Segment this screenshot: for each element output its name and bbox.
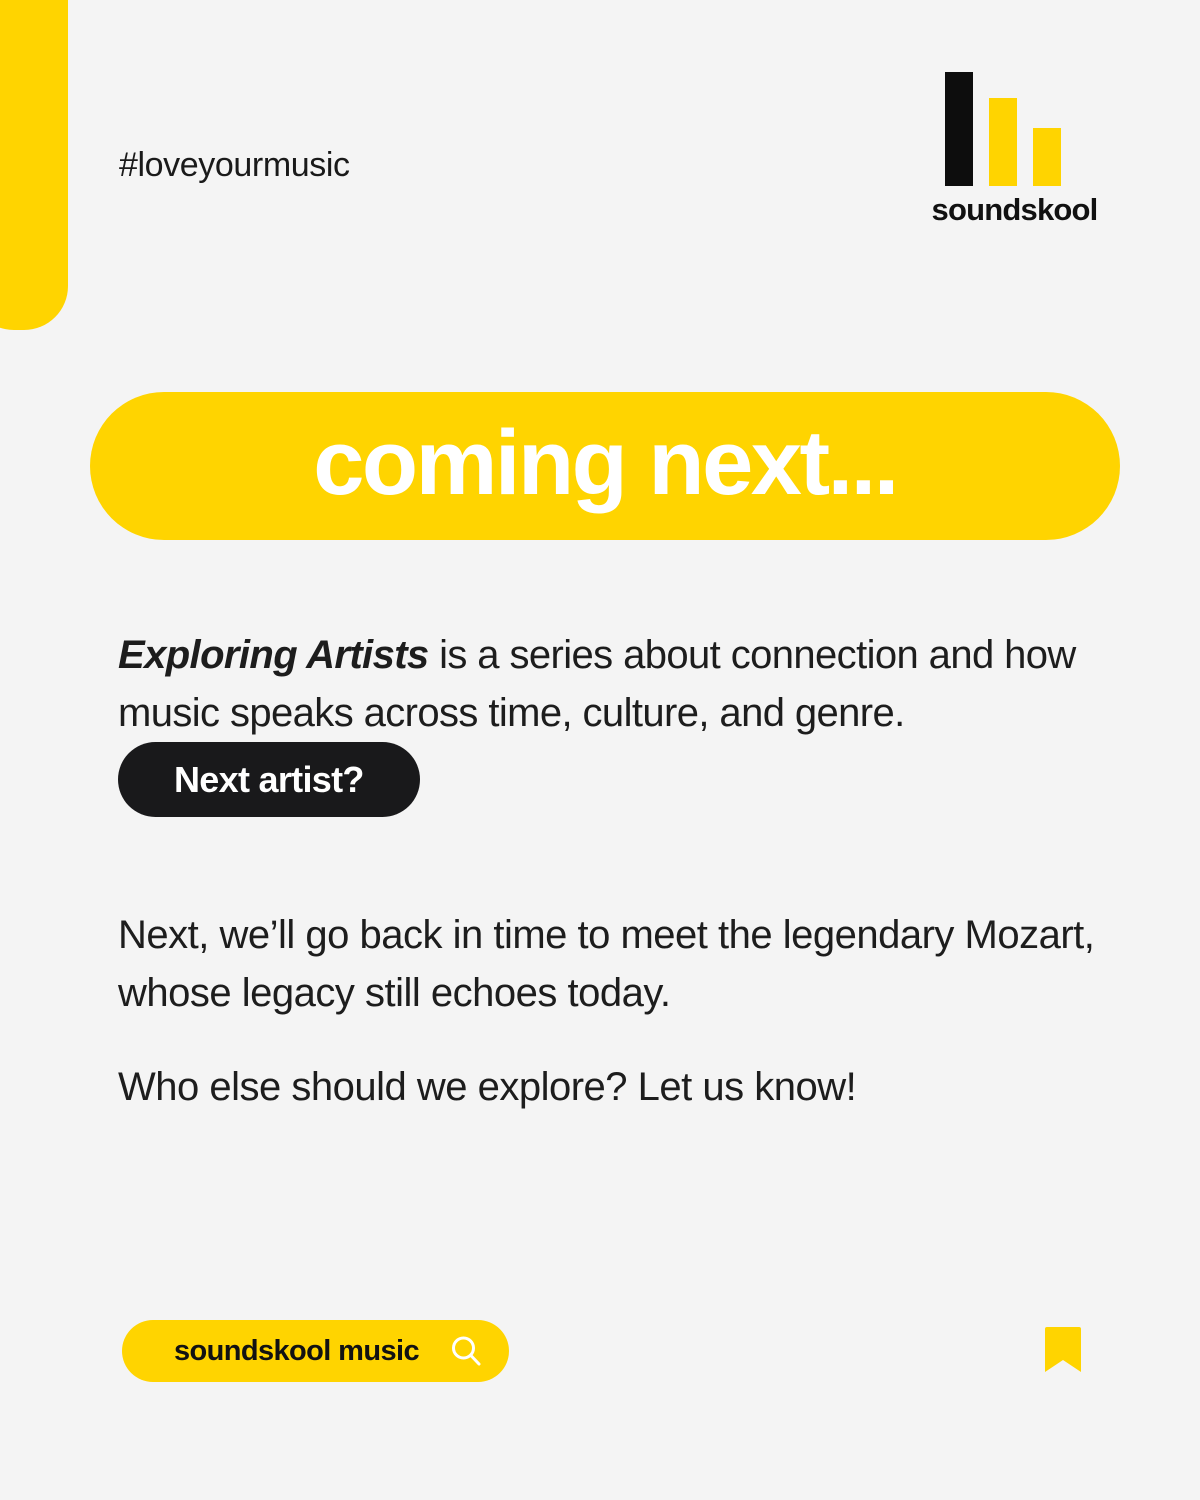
- brand-logo: soundskool: [927, 72, 1102, 228]
- body-paragraph-2: Who else should we explore? Let us know!: [118, 1058, 1138, 1116]
- equalizer-bar-tall-icon: [945, 72, 973, 186]
- intro-emphasis: Exploring Artists: [118, 633, 429, 677]
- equalizer-bar-medium-icon: [989, 98, 1017, 186]
- search-pill-label: soundskool music: [174, 1334, 419, 1368]
- headline-banner: coming next...: [90, 392, 1120, 540]
- next-artist-badge-label: Next artist?: [174, 760, 364, 800]
- decorative-corner-tab: [0, 0, 68, 330]
- brand-name: soundskool: [927, 192, 1102, 228]
- search-pill[interactable]: soundskool music: [122, 1320, 509, 1382]
- equalizer-bars-icon: [927, 72, 1102, 186]
- search-icon: [449, 1334, 483, 1368]
- next-artist-badge[interactable]: Next artist?: [118, 742, 420, 817]
- equalizer-bar-short-icon: [1033, 128, 1061, 186]
- hashtag: #loveyourmusic: [119, 141, 350, 189]
- bookmark-icon[interactable]: [1040, 1324, 1082, 1374]
- slide-canvas: #loveyourmusic soundskool coming next...…: [0, 0, 1200, 1500]
- headline-text: coming next...: [313, 413, 897, 513]
- body-paragraph-1: Next, we’ll go back in time to meet the …: [118, 906, 1138, 1022]
- intro-paragraph: Exploring Artists is a series about conn…: [118, 626, 1128, 742]
